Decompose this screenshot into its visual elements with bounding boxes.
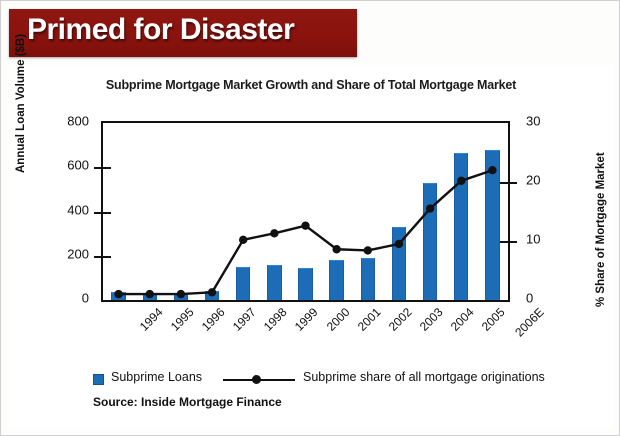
x-axis-tick-label-2003: 2003	[417, 305, 446, 334]
line-marker-2005	[457, 177, 465, 185]
y-axis-title-right: % Share of Mortgage Market	[595, 127, 607, 307]
headline-banner: Primed for Disaster	[9, 9, 357, 57]
x-axis-tick-label-2001: 2001	[354, 305, 383, 334]
legend-dot-marker	[252, 375, 261, 384]
line-series-layer	[103, 123, 508, 300]
line-marker-1995	[146, 290, 154, 298]
plot-area	[101, 121, 510, 302]
y-axis-title-left-text: Annual Loan Volume ($B)	[15, 34, 27, 173]
y-axis-tick-label-right: 10	[526, 232, 540, 247]
line-marker-2001	[332, 245, 340, 253]
y-axis-title-left: Annual Loan Volume ($B)	[15, 53, 27, 173]
y-axis-tick-right-inner	[500, 182, 508, 184]
y-axis-tick-right-inner	[500, 241, 508, 243]
chart-title: Subprime Mortgage Market Growth and Shar…	[9, 78, 613, 92]
x-axis-tick-label-1995: 1995	[168, 305, 197, 334]
y-axis-tick-label-right: 30	[526, 114, 540, 129]
x-axis-tick-label-1999: 1999	[292, 305, 321, 334]
x-axis-tick-label-1998: 1998	[261, 305, 290, 334]
y-axis-tick-label-left: 400	[45, 202, 89, 217]
chart-card: Subprime Mortgage Market Growth and Shar…	[9, 65, 613, 429]
x-axis-tick-label-2004: 2004	[448, 305, 477, 334]
x-axis-tick-label-1997: 1997	[230, 305, 259, 334]
y-axis-title-right-text: % Share of Mortgage Market	[595, 152, 607, 307]
y-axis-tick-left	[94, 212, 103, 214]
line-path	[119, 170, 493, 294]
line-marker-2004	[426, 204, 434, 212]
y-axis-tick-left-inner	[103, 167, 111, 169]
x-axis-tick-label-1994: 1994	[136, 305, 165, 334]
y-axis-tick-left	[94, 167, 103, 169]
headline-title: Primed for Disaster	[27, 13, 294, 47]
x-axis-tick-label-2002: 2002	[386, 305, 415, 334]
x-axis-tick-label-2006E: 2006E	[513, 305, 547, 339]
line-marker-1997	[208, 288, 216, 296]
line-marker-2003	[395, 240, 403, 248]
y-axis-tick-label-right: 0	[526, 291, 533, 306]
x-axis-tick-label-2005: 2005	[479, 305, 508, 334]
y-axis-tick-right	[508, 182, 517, 184]
line-marker-1994	[114, 290, 122, 298]
y-axis-tick-label-left: 800	[45, 114, 89, 129]
legend-label-line: Subprime share of all mortgage originati…	[303, 370, 545, 384]
y-axis-tick-label-left: 600	[45, 158, 89, 173]
y-axis-tick-label-left: 0	[45, 291, 89, 306]
line-marker-2002	[364, 246, 372, 254]
y-axis-tick-left	[94, 256, 103, 258]
line-marker-2000	[301, 221, 309, 229]
y-axis-tick-right	[508, 241, 517, 243]
source-note: Source: Inside Mortgage Finance	[93, 395, 282, 409]
legend-label-bars: Subprime Loans	[111, 370, 202, 384]
y-axis-tick-left-inner	[103, 212, 111, 214]
x-axis-tick-label-1996: 1996	[199, 305, 228, 334]
y-axis-tick-label-right: 20	[526, 173, 540, 188]
figure-container: Primed for Disaster Subprime Mortgage Ma…	[0, 0, 620, 436]
x-axis-tick-label-2000: 2000	[323, 305, 352, 334]
chart-legend: Subprime Loans Subprime share of all mor…	[9, 366, 613, 392]
line-marker-1996	[177, 290, 185, 298]
line-marker-1999	[270, 229, 278, 237]
line-marker-1998	[239, 236, 247, 244]
y-axis-tick-left-inner	[103, 256, 111, 258]
y-axis-tick-label-left: 200	[45, 246, 89, 261]
legend-swatch-bars	[93, 374, 104, 385]
line-marker-2006E	[488, 166, 496, 174]
